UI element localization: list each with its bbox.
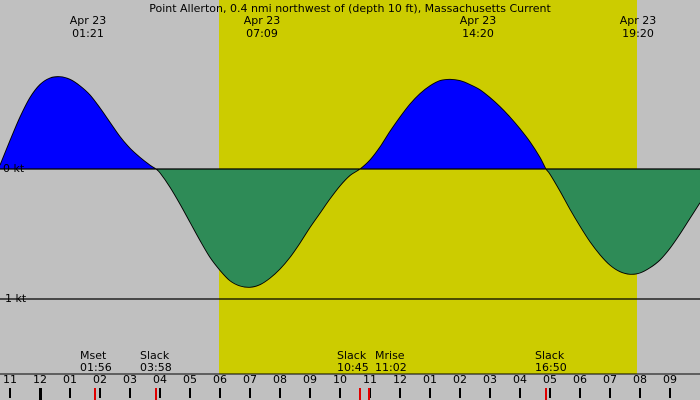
event-label-moonset: Mset 01:56 — [80, 350, 112, 374]
hour-axis-label: 11 — [355, 374, 385, 386]
event-tick-moonrise — [368, 388, 370, 400]
hour-axis-label: 04 — [145, 374, 175, 386]
event-tick-slack — [359, 388, 361, 400]
tidal-current-chart: Point Allerton, 0.4 nmi northwest of (de… — [0, 0, 700, 400]
hour-tick — [339, 388, 341, 398]
hour-axis-label: 06 — [205, 374, 235, 386]
hour-tick — [279, 388, 281, 398]
event-tick-moonset — [94, 388, 96, 400]
hour-tick — [669, 388, 671, 398]
hour-axis-label: 06 — [565, 374, 595, 386]
hour-axis-label: 07 — [235, 374, 265, 386]
hour-tick — [129, 388, 131, 398]
hour-tick — [159, 388, 161, 398]
hour-tick — [69, 388, 71, 398]
event-label-slack-3: Slack 16:50 — [535, 350, 567, 374]
hour-tick — [609, 388, 611, 398]
hour-tick — [429, 388, 431, 398]
y-axis-label-0kt: 0 kt — [3, 163, 24, 174]
hour-axis-label: 10 — [325, 374, 355, 386]
hour-axis-label: 09 — [655, 374, 685, 386]
event-tick-slack — [545, 388, 547, 400]
hour-tick — [459, 388, 461, 398]
hour-tick — [189, 388, 191, 398]
hour-axis-label: 07 — [595, 374, 625, 386]
event-label-moonrise: Mrise 11:02 — [375, 350, 407, 374]
hour-tick — [9, 388, 11, 398]
hour-tick — [309, 388, 311, 398]
hour-axis-label: 03 — [475, 374, 505, 386]
hour-tick — [519, 388, 521, 398]
hour-axis-label: 05 — [175, 374, 205, 386]
hour-tick — [399, 388, 401, 398]
hour-axis-label: 01 — [55, 374, 85, 386]
hour-tick — [489, 388, 491, 398]
hour-axis-label: 04 — [505, 374, 535, 386]
current-curve-layer — [0, 0, 700, 400]
hour-tick — [579, 388, 581, 398]
hour-axis-label: 08 — [625, 374, 655, 386]
y-axis-label-minus1kt: -1 kt — [1, 293, 26, 304]
hour-axis-label: 08 — [265, 374, 295, 386]
hour-axis-label: 02 — [445, 374, 475, 386]
hour-axis-label: 02 — [85, 374, 115, 386]
hour-axis-label: 01 — [415, 374, 445, 386]
ebb-current-area — [0, 77, 700, 288]
event-label-slack-1: Slack 03:58 — [140, 350, 172, 374]
midnight-tick — [39, 388, 42, 400]
hour-axis-label: 12 — [25, 374, 55, 386]
hour-axis: 1112010203040506070809101112010203040506… — [0, 374, 700, 400]
hour-axis-label: 12 — [385, 374, 415, 386]
hour-axis-label: 09 — [295, 374, 325, 386]
hour-tick — [249, 388, 251, 398]
hour-tick — [219, 388, 221, 398]
event-label-slack-2: Slack 10:45 — [337, 350, 369, 374]
hour-tick — [549, 388, 551, 398]
hour-axis-label: 11 — [0, 374, 25, 386]
event-tick-slack — [155, 388, 157, 400]
hour-tick — [639, 388, 641, 398]
hour-tick — [99, 388, 101, 398]
hour-axis-label: 03 — [115, 374, 145, 386]
hour-axis-label: 05 — [535, 374, 565, 386]
